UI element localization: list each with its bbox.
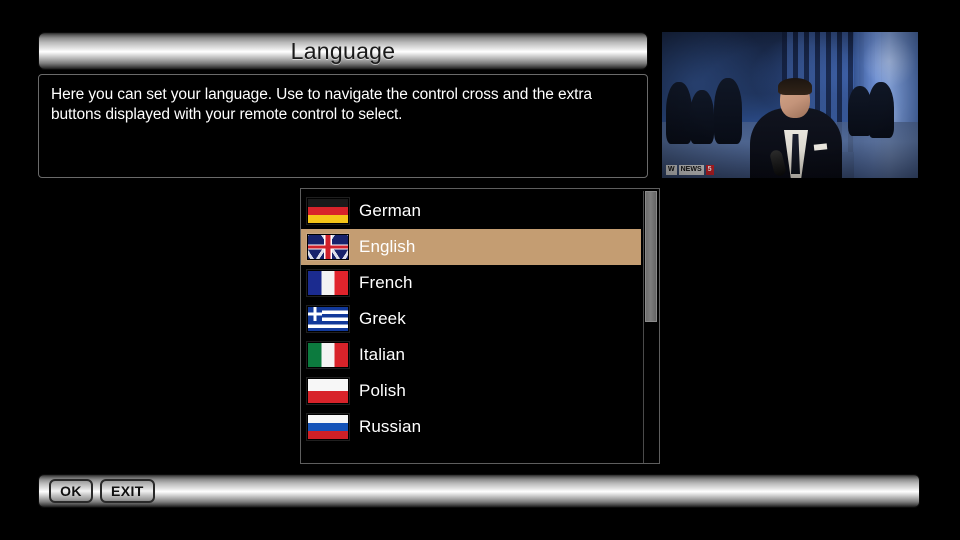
language-label: French xyxy=(359,273,413,293)
flag-greece-icon xyxy=(307,306,349,332)
help-text: Here you can set your language. Use to n… xyxy=(51,85,635,125)
language-list-item[interactable]: Russian xyxy=(301,409,641,445)
help-text-box: Here you can set your language. Use to n… xyxy=(38,74,648,178)
exit-button[interactable]: EXIT xyxy=(100,479,155,503)
ok-button[interactable]: OK xyxy=(49,479,93,503)
flag-united-kingdom-icon xyxy=(307,234,349,260)
live-tv-preview[interactable]: W NEWS 5 xyxy=(662,32,918,178)
preview-vignette xyxy=(662,32,918,178)
language-list-item[interactable]: German xyxy=(301,193,641,229)
language-label: Italian xyxy=(359,345,405,365)
flag-poland-icon xyxy=(307,378,349,404)
language-label: Polish xyxy=(359,381,406,401)
tv-settings-screen: Language Here you can set your language.… xyxy=(0,0,960,540)
language-list-item[interactable]: English xyxy=(301,229,641,265)
language-list-item[interactable]: Greek xyxy=(301,301,641,337)
language-label: English xyxy=(359,237,415,257)
language-label: German xyxy=(359,201,421,221)
footer-button-bar: OKEXIT xyxy=(38,474,920,508)
language-list-panel: GermanEnglishFrenchGreekItalianPolishRus… xyxy=(300,188,660,464)
language-label: Greek xyxy=(359,309,406,329)
language-label: Russian xyxy=(359,417,421,437)
language-list-item[interactable]: French xyxy=(301,265,641,301)
window-title-bar: Language xyxy=(38,32,648,70)
list-scrollbar-thumb[interactable] xyxy=(645,191,657,322)
flag-russia-icon xyxy=(307,414,349,440)
language-list-item[interactable]: Polish xyxy=(301,373,641,409)
flag-italy-icon xyxy=(307,342,349,368)
flag-france-icon xyxy=(307,270,349,296)
language-list: GermanEnglishFrenchGreekItalianPolishRus… xyxy=(301,193,641,445)
language-list-item[interactable]: Italian xyxy=(301,337,641,373)
list-scrollbar[interactable] xyxy=(643,191,657,463)
flag-germany-icon xyxy=(307,198,349,224)
page-title: Language xyxy=(291,38,396,65)
